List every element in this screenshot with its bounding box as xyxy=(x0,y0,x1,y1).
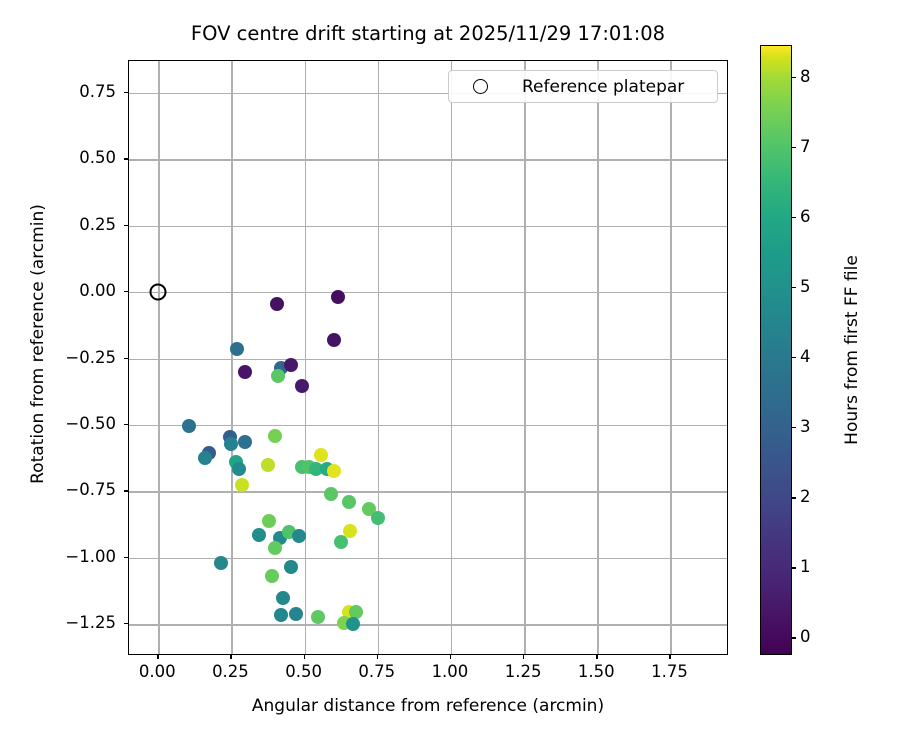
x-tick-mark-4 xyxy=(450,655,451,659)
y-tick-label-5: −0.50 xyxy=(0,414,116,433)
scatter-point xyxy=(334,535,348,549)
scatter-point xyxy=(230,342,244,356)
scatter-point xyxy=(265,569,279,583)
scatter-point xyxy=(271,369,285,383)
y-tick-mark-5 xyxy=(124,424,128,425)
scatter-point xyxy=(224,437,238,451)
gridline-horizontal-8 xyxy=(129,624,727,625)
y-tick-label-3: 0.00 xyxy=(0,281,116,300)
y-tick-label-4: −0.25 xyxy=(0,348,116,367)
y-tick-mark-1 xyxy=(124,158,128,159)
y-tick-label-8: −1.25 xyxy=(0,613,116,632)
x-tick-mark-1 xyxy=(230,655,231,659)
chart-title: FOV centre drift starting at 2025/11/29 … xyxy=(128,22,728,45)
scatter-point xyxy=(182,419,196,433)
colorbar-tick-mark-4 xyxy=(792,357,796,358)
colorbar-tick-label-3: 3 xyxy=(800,417,811,436)
y-tick-label-2: 0.25 xyxy=(0,215,116,234)
scatter-point xyxy=(268,429,282,443)
gridline-horizontal-5 xyxy=(129,425,727,426)
gridline-horizontal-1 xyxy=(129,159,727,160)
scatter-point xyxy=(274,608,288,622)
scatter-point xyxy=(289,607,303,621)
colorbar-tick-mark-8 xyxy=(792,77,796,78)
scatter-point xyxy=(252,528,266,542)
y-tick-mark-0 xyxy=(124,92,128,93)
scatter-point xyxy=(235,478,249,492)
scatter-point xyxy=(327,333,341,347)
x-tick-label-0: 0.00 xyxy=(127,662,187,681)
gridline-vertical-2 xyxy=(305,61,306,654)
y-axis-label: Rotation from reference (arcmin) xyxy=(28,44,48,644)
colorbar-tick-mark-2 xyxy=(792,497,796,498)
scatter-point xyxy=(311,610,325,624)
colorbar-tick-label-4: 4 xyxy=(800,347,811,366)
gridline-vertical-7 xyxy=(670,61,671,654)
scatter-point xyxy=(214,556,228,570)
scatter-point xyxy=(284,358,298,372)
colorbar xyxy=(760,45,792,655)
y-tick-mark-6 xyxy=(124,490,128,491)
gridline-vertical-4 xyxy=(451,61,452,654)
gridline-horizontal-4 xyxy=(129,359,727,360)
x-tick-mark-3 xyxy=(377,655,378,659)
scatter-point xyxy=(238,365,252,379)
colorbar-tick-label-7: 7 xyxy=(800,137,811,156)
legend-label: Reference platepar xyxy=(522,77,684,97)
y-tick-mark-8 xyxy=(124,623,128,624)
scatter-point xyxy=(268,541,282,555)
scatter-point xyxy=(270,297,284,311)
scatter-point xyxy=(295,379,309,393)
gridline-vertical-5 xyxy=(524,61,525,654)
figure-canvas: FOV centre drift starting at 2025/11/29 … xyxy=(0,0,900,750)
scatter-point xyxy=(342,495,356,509)
scatter-point xyxy=(346,617,360,631)
gridline-horizontal-6 xyxy=(129,491,727,492)
colorbar-tick-label-8: 8 xyxy=(800,67,811,86)
y-tick-label-6: −0.75 xyxy=(0,480,116,499)
colorbar-tick-mark-7 xyxy=(792,147,796,148)
scatter-point xyxy=(371,511,385,525)
gridline-vertical-6 xyxy=(597,61,598,654)
scatter-point xyxy=(284,560,298,574)
colorbar-tick-mark-6 xyxy=(792,217,796,218)
colorbar-tick-mark-1 xyxy=(792,567,796,568)
y-tick-mark-7 xyxy=(124,557,128,558)
gridline-vertical-0 xyxy=(158,61,159,654)
colorbar-tick-mark-5 xyxy=(792,287,796,288)
colorbar-tick-label-1: 1 xyxy=(800,557,811,576)
x-tick-label-1: 0.25 xyxy=(200,662,260,681)
legend: Reference platepar xyxy=(448,70,718,103)
x-axis-label: Angular distance from reference (arcmin) xyxy=(128,696,728,716)
colorbar-tick-mark-3 xyxy=(792,427,796,428)
colorbar-tick-mark-0 xyxy=(792,637,796,638)
x-tick-label-7: 1.75 xyxy=(639,662,699,681)
y-tick-label-1: 0.50 xyxy=(0,148,116,167)
x-tick-label-2: 0.50 xyxy=(274,662,334,681)
scatter-point xyxy=(276,591,290,605)
colorbar-tick-label-6: 6 xyxy=(800,207,811,226)
scatter-point xyxy=(314,448,328,462)
x-tick-label-3: 0.75 xyxy=(347,662,407,681)
scatter-point xyxy=(327,464,341,478)
y-tick-label-0: 0.75 xyxy=(0,82,116,101)
reference-platepar-marker xyxy=(150,284,167,301)
x-tick-mark-6 xyxy=(596,655,597,659)
legend-marker-reference-platepar-icon xyxy=(473,79,488,94)
x-tick-mark-7 xyxy=(669,655,670,659)
scatter-point xyxy=(324,487,338,501)
x-tick-label-6: 1.50 xyxy=(566,662,626,681)
scatter-point xyxy=(262,514,276,528)
scatter-point xyxy=(238,435,252,449)
colorbar-tick-label-5: 5 xyxy=(800,277,811,296)
scatter-point xyxy=(292,529,306,543)
gridline-horizontal-2 xyxy=(129,226,727,227)
y-tick-mark-4 xyxy=(124,358,128,359)
scatter-point xyxy=(331,290,345,304)
scatter-point xyxy=(232,462,246,476)
y-tick-mark-2 xyxy=(124,225,128,226)
y-tick-mark-3 xyxy=(124,291,128,292)
x-tick-mark-2 xyxy=(304,655,305,659)
colorbar-label: Hours from first FF file xyxy=(842,70,862,630)
colorbar-tick-label-0: 0 xyxy=(800,627,811,646)
plot-area xyxy=(128,60,728,655)
gridline-vertical-3 xyxy=(378,61,379,654)
gridline-horizontal-3 xyxy=(129,292,727,293)
x-tick-mark-5 xyxy=(523,655,524,659)
y-tick-label-7: −1.00 xyxy=(0,547,116,566)
scatter-point xyxy=(261,458,275,472)
gridline-vertical-1 xyxy=(231,61,232,654)
scatter-point xyxy=(198,451,212,465)
x-tick-label-4: 1.00 xyxy=(420,662,480,681)
colorbar-tick-label-2: 2 xyxy=(800,487,811,506)
x-tick-mark-0 xyxy=(157,655,158,659)
x-tick-label-5: 1.25 xyxy=(493,662,553,681)
